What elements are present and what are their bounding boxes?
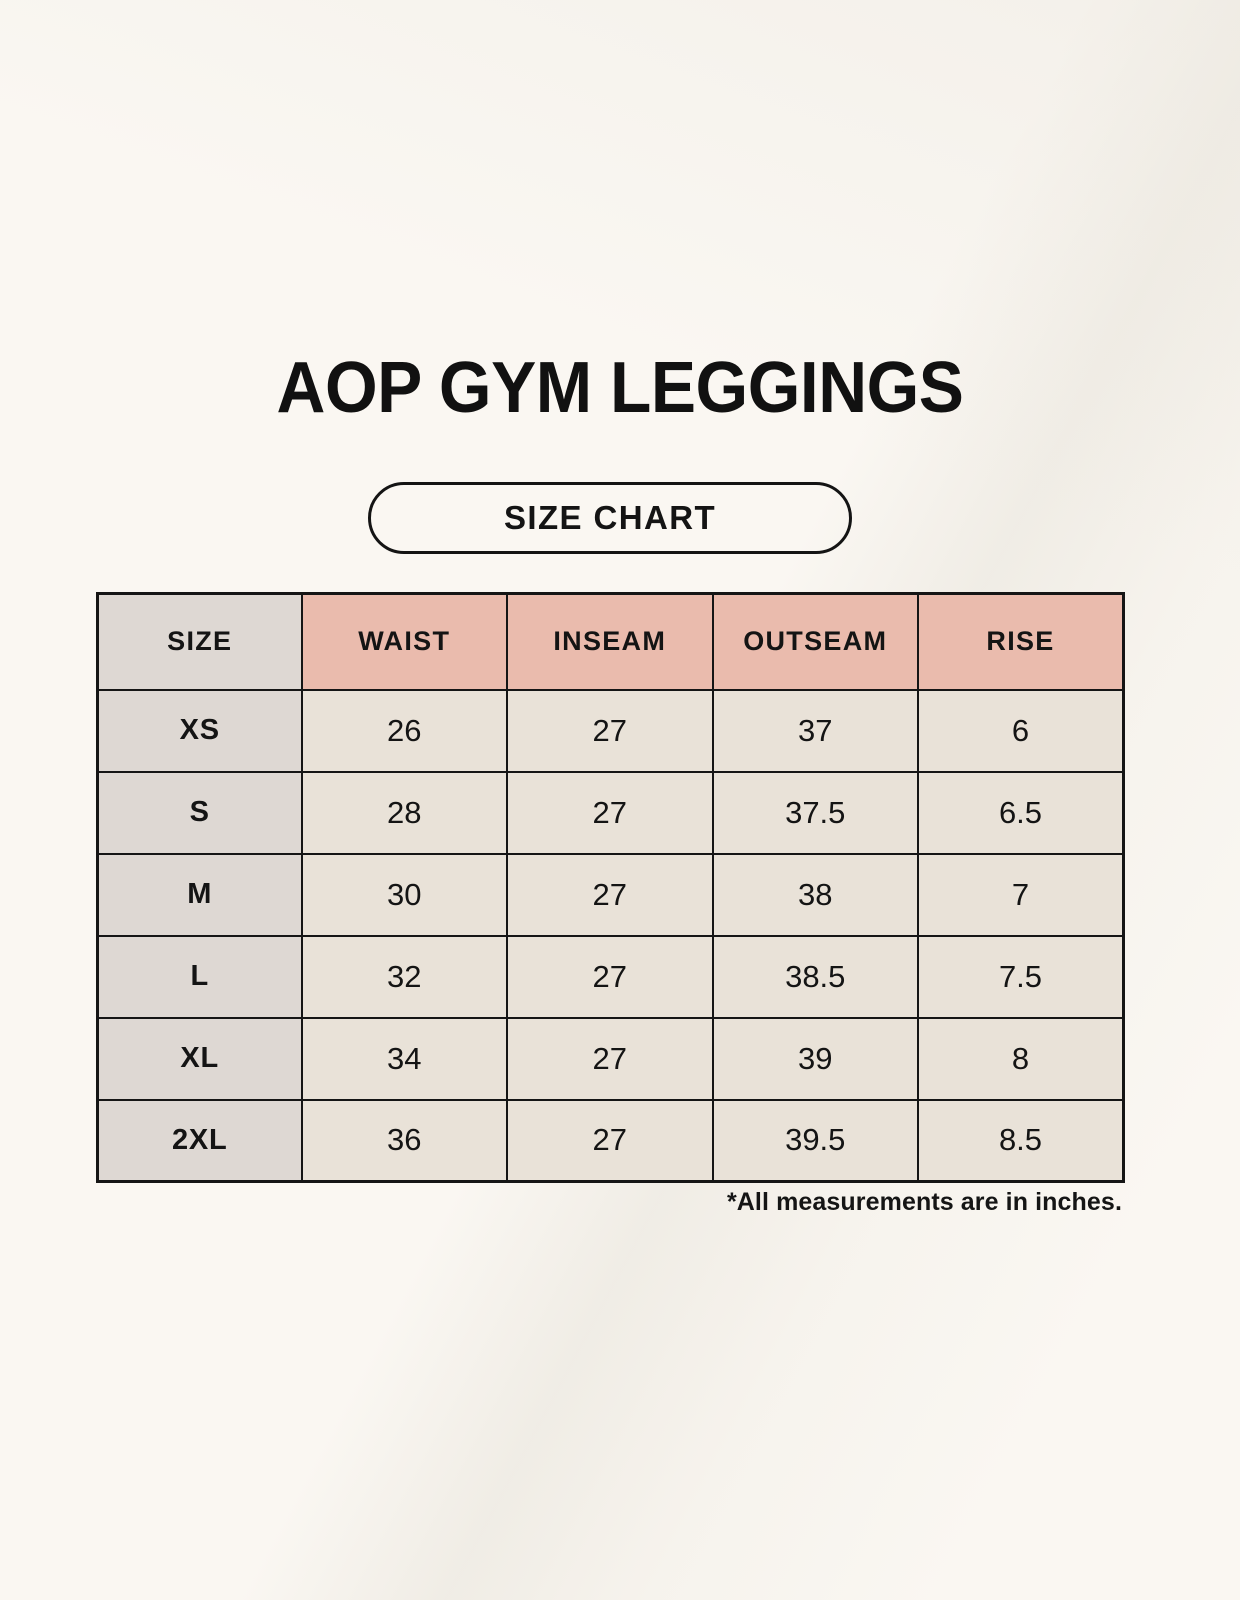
cell-inseam: 27: [507, 1100, 713, 1182]
table-header-row: SIZE WAIST INSEAM OUTSEAM RISE: [98, 594, 1124, 690]
size-chart-page: AOP GYM LEGGINGS SIZE CHART SIZE WAIST I…: [0, 0, 1240, 1600]
cell-waist: 30: [302, 854, 508, 936]
cell-rise: 6: [918, 690, 1124, 772]
cell-waist: 32: [302, 936, 508, 1018]
cell-outseam: 39.5: [713, 1100, 919, 1182]
cell-inseam: 27: [507, 690, 713, 772]
size-chart-table: SIZE WAIST INSEAM OUTSEAM RISE XS 26 27 …: [96, 592, 1125, 1183]
cell-waist: 36: [302, 1100, 508, 1182]
measurements-footnote: *All measurements are in inches.: [96, 1188, 1122, 1217]
cell-outseam: 37.5: [713, 772, 919, 854]
column-header-outseam: OUTSEAM: [713, 594, 919, 690]
column-header-waist: WAIST: [302, 594, 508, 690]
size-chart-badge: SIZE CHART: [368, 482, 852, 554]
cell-size: 2XL: [98, 1100, 302, 1182]
cell-size: S: [98, 772, 302, 854]
cell-waist: 28: [302, 772, 508, 854]
cell-inseam: 27: [507, 772, 713, 854]
cell-waist: 26: [302, 690, 508, 772]
table-body: XS 26 27 37 6 S 28 27 37.5 6.5 M 30 27: [98, 690, 1124, 1182]
cell-outseam: 39: [713, 1018, 919, 1100]
cell-rise: 6.5: [918, 772, 1124, 854]
table-row: XL 34 27 39 8: [98, 1018, 1124, 1100]
cell-waist: 34: [302, 1018, 508, 1100]
cell-rise: 7: [918, 854, 1124, 936]
cell-outseam: 38.5: [713, 936, 919, 1018]
column-header-inseam: INSEAM: [507, 594, 713, 690]
cell-size: XS: [98, 690, 302, 772]
column-header-size: SIZE: [98, 594, 302, 690]
cell-inseam: 27: [507, 936, 713, 1018]
cell-size: M: [98, 854, 302, 936]
table-header: SIZE WAIST INSEAM OUTSEAM RISE: [98, 594, 1124, 690]
cell-size: L: [98, 936, 302, 1018]
cell-rise: 8: [918, 1018, 1124, 1100]
size-chart-table-wrapper: SIZE WAIST INSEAM OUTSEAM RISE XS 26 27 …: [96, 592, 1122, 1183]
cell-inseam: 27: [507, 854, 713, 936]
table-row: 2XL 36 27 39.5 8.5: [98, 1100, 1124, 1182]
cell-outseam: 37: [713, 690, 919, 772]
table-row: L 32 27 38.5 7.5: [98, 936, 1124, 1018]
size-chart-badge-label: SIZE CHART: [504, 499, 716, 537]
page-title: AOP GYM LEGGINGS: [37, 352, 1203, 424]
column-header-rise: RISE: [918, 594, 1124, 690]
cell-inseam: 27: [507, 1018, 713, 1100]
cell-rise: 8.5: [918, 1100, 1124, 1182]
table-row: XS 26 27 37 6: [98, 690, 1124, 772]
table-row: S 28 27 37.5 6.5: [98, 772, 1124, 854]
cell-outseam: 38: [713, 854, 919, 936]
cell-rise: 7.5: [918, 936, 1124, 1018]
cell-size: XL: [98, 1018, 302, 1100]
table-row: M 30 27 38 7: [98, 854, 1124, 936]
